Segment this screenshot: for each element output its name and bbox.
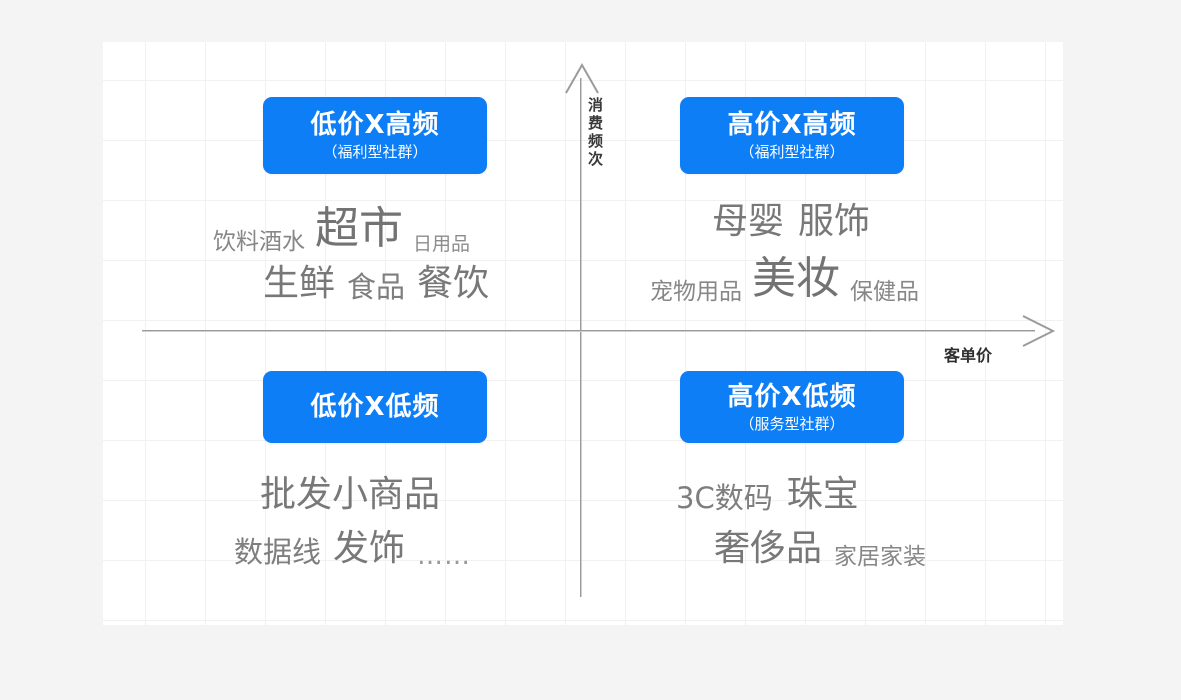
tag-item: 数据线 bbox=[234, 529, 321, 571]
quadrant-title: 低价X低频 bbox=[310, 391, 439, 423]
tag-ellipsis: …… bbox=[417, 541, 471, 571]
tag-item: 食品 bbox=[347, 264, 405, 306]
tag-item: 家居家装 bbox=[834, 537, 926, 571]
quadrant-badge-top-right[interactable]: 高价X高频 （福利型社群） bbox=[680, 97, 904, 174]
tag-item: 服饰 bbox=[798, 192, 870, 244]
tag-item: 奢侈品 bbox=[714, 519, 822, 571]
tag-item: 珠宝 bbox=[787, 465, 859, 517]
tag-item: 饮料酒水 bbox=[213, 222, 305, 256]
tag-item: 批发小商品 bbox=[260, 465, 440, 517]
quadrant-title: 高价X高频 bbox=[727, 109, 856, 141]
tag-cloud-top-right: 母婴 服饰 宠物用品 美妆 保健品 bbox=[650, 192, 919, 306]
quadrant-badge-bottom-right[interactable]: 高价X低频 （服务型社群） bbox=[680, 371, 904, 443]
tag-item: 日用品 bbox=[413, 229, 470, 256]
arrow-right-icon bbox=[1020, 313, 1056, 349]
y-axis-label: 消费频次 bbox=[588, 96, 608, 168]
tag-item: 发饰 bbox=[333, 519, 405, 571]
quadrant-badge-bottom-left[interactable]: 低价X低频 bbox=[263, 371, 487, 443]
tag-cloud-top-left: 饮料酒水 超市 日用品 生鲜 食品 餐饮 bbox=[213, 192, 489, 306]
tag-item: 保健品 bbox=[850, 272, 919, 306]
tag-item: 餐饮 bbox=[417, 254, 489, 306]
quadrant-matrix-diagram: 消费频次 客单价 低价X高频 （福利型社群） 高价X高频 （福利型社群） 低价X… bbox=[0, 0, 1181, 700]
quadrant-subtitle: （福利型社群） bbox=[322, 142, 427, 162]
tag-item: 美妆 bbox=[752, 242, 840, 306]
tag-cloud-bottom-right: 3C数码 珠宝 奢侈品 家居家装 bbox=[676, 465, 926, 571]
arrow-up-icon bbox=[563, 62, 601, 96]
quadrant-subtitle: （服务型社群） bbox=[739, 414, 844, 434]
y-axis-line bbox=[580, 78, 582, 597]
tag-item: 生鲜 bbox=[263, 254, 335, 306]
quadrant-subtitle: （福利型社群） bbox=[739, 142, 844, 162]
tag-item: 超市 bbox=[315, 192, 403, 256]
x-axis-label: 客单价 bbox=[944, 342, 992, 366]
quadrant-title: 高价X低频 bbox=[727, 381, 856, 413]
tag-cloud-bottom-left: 批发小商品 数据线 发饰 …… bbox=[234, 465, 471, 571]
x-axis-line bbox=[142, 330, 1035, 332]
quadrant-title: 低价X高频 bbox=[310, 109, 439, 141]
tag-item: 母婴 bbox=[712, 192, 784, 244]
tag-item: 3C数码 bbox=[676, 475, 773, 517]
tag-item: 宠物用品 bbox=[650, 272, 742, 306]
quadrant-badge-top-left[interactable]: 低价X高频 （福利型社群） bbox=[263, 97, 487, 174]
